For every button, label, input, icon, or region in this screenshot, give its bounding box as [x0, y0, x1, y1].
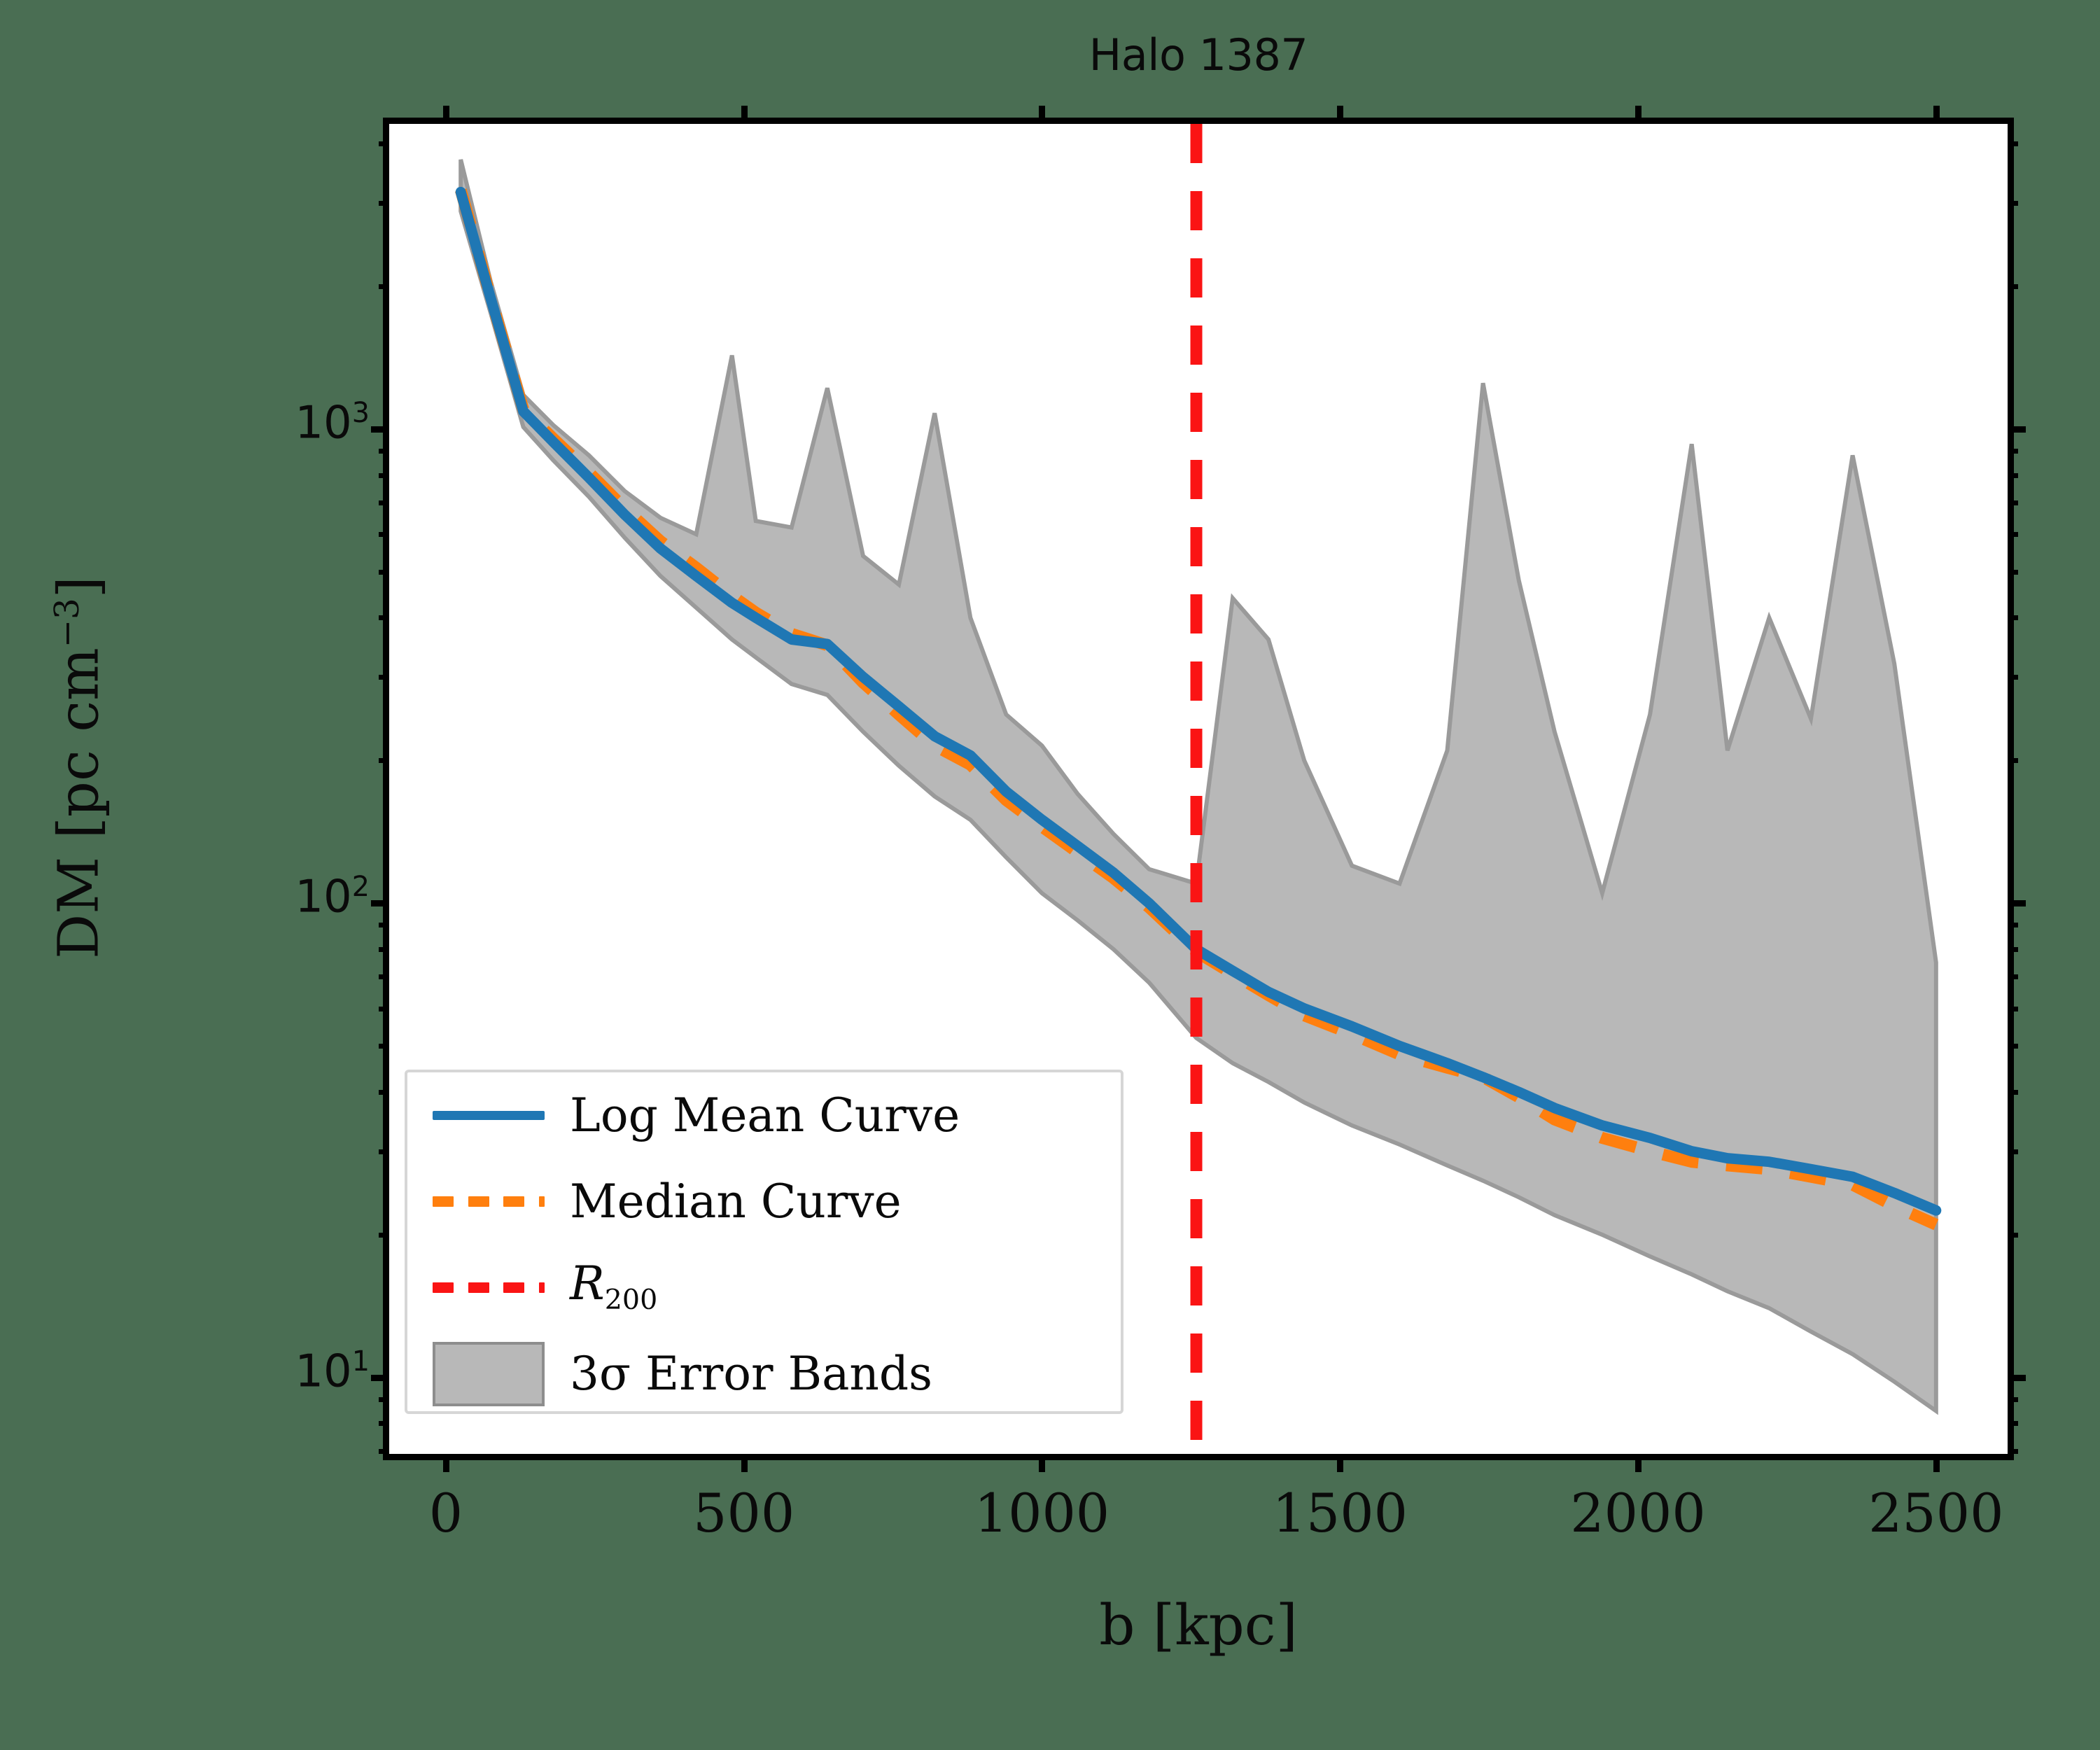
- y-tick-minor-8: [379, 1421, 389, 1426]
- y-tick-minor-right-50: [2008, 1044, 2018, 1049]
- y-tick-label-1e1: 101: [165, 1345, 370, 1397]
- y-tick-major-right-1e3: [2008, 426, 2026, 433]
- x-tick-major-top-2500: [1933, 106, 1940, 124]
- legend-item-median[interactable]: Median Curve: [407, 1158, 1121, 1245]
- x-tick-major-2500: [1933, 1454, 1940, 1472]
- y-tick-minor-right-700: [2008, 500, 2018, 505]
- y-tick-minor-right-20: [2008, 1233, 2018, 1238]
- y-tick-minor-20: [379, 1233, 389, 1238]
- y-tick-major-right-1e2: [2008, 900, 2026, 906]
- x-tick-label-2000: 2000: [1498, 1482, 1778, 1544]
- y-tick-major-left-1e3: [371, 426, 389, 433]
- y-tick-minor-right-90: [2008, 923, 2018, 927]
- y-tick-minor-right-500: [2008, 570, 2018, 575]
- x-tick-major-top-500: [741, 106, 748, 124]
- legend-item-r200[interactable]: R200: [407, 1245, 1121, 1331]
- y-axis-title: DM [pc cm−3]: [46, 278, 111, 1258]
- y-tick-minor-900: [379, 449, 389, 454]
- y-tick-minor-right-7: [2008, 1449, 2018, 1454]
- y-tick-minor-40: [379, 1090, 389, 1095]
- y-tick-minor-right-9: [2008, 1397, 2018, 1402]
- y-axis-title-text: DM [pc cm: [46, 647, 111, 959]
- y-tick-minor-right-40: [2008, 1090, 2018, 1095]
- y-tick-minor-right-2000: [2008, 284, 2018, 289]
- x-tick-major-1000: [1039, 1454, 1045, 1472]
- y-tick-minor-right-200: [2008, 758, 2018, 763]
- x-axis-title: b [kpc]: [383, 1592, 2014, 1658]
- y-tick-minor-500: [379, 570, 389, 575]
- legend-label-r200-subscript: 200: [605, 1284, 658, 1316]
- y-tick-minor-80: [379, 947, 389, 952]
- legend-item-error-bands[interactable]: 3σ Error Bands: [407, 1331, 1121, 1417]
- y-tick-minor-400: [379, 615, 389, 620]
- x-tick-major-1500: [1337, 1454, 1343, 1472]
- legend-label-r200-symbol: R: [570, 1256, 605, 1310]
- legend-key-dashed-red: [407, 1282, 570, 1293]
- legend-label-error-bands: 3σ Error Bands: [570, 1351, 932, 1397]
- x-tick-major-500: [741, 1454, 748, 1472]
- y-tick-minor-200: [379, 758, 389, 763]
- legend-key-dashed-orange: [407, 1196, 570, 1207]
- x-tick-major-top-1500: [1337, 106, 1343, 124]
- legend-label-median: Median Curve: [570, 1179, 902, 1225]
- y-tick-minor-70: [379, 974, 389, 979]
- figure-root: Halo 1387 10310210105001000150020002500 …: [0, 0, 2100, 1750]
- legend-label-log-mean: Log Mean Curve: [570, 1093, 960, 1139]
- legend: Log Mean Curve Median Curve R200 3σ Erro…: [405, 1070, 1123, 1414]
- y-tick-minor-right-3000: [2008, 201, 2018, 206]
- y-tick-minor-right-8: [2008, 1421, 2018, 1426]
- y-tick-minor-right-4000: [2008, 141, 2018, 146]
- y-tick-minor-2000: [379, 284, 389, 289]
- y-tick-minor-800: [379, 473, 389, 478]
- y-tick-minor-60: [379, 1007, 389, 1011]
- x-tick-label-2500: 2500: [1796, 1482, 2076, 1544]
- legend-key-solid-line: [407, 1111, 570, 1120]
- page-title: Halo 1387: [383, 29, 2014, 80]
- y-tick-minor-600: [379, 532, 389, 537]
- y-tick-minor-right-300: [2008, 675, 2018, 680]
- y-tick-minor-30: [379, 1149, 389, 1154]
- x-tick-major-top-0: [443, 106, 449, 124]
- y-tick-minor-3000: [379, 201, 389, 206]
- legend-label-r200: R200: [570, 1261, 657, 1315]
- y-tick-minor-right-60: [2008, 1007, 2018, 1011]
- y-axis-title-close: ]: [46, 576, 111, 598]
- y-tick-minor-right-800: [2008, 473, 2018, 478]
- y-tick-label-1e2: 102: [165, 871, 370, 923]
- y-tick-minor-90: [379, 923, 389, 927]
- y-tick-minor-right-600: [2008, 532, 2018, 537]
- x-tick-major-top-2000: [1635, 106, 1641, 124]
- y-tick-minor-right-70: [2008, 974, 2018, 979]
- x-tick-major-0: [443, 1454, 449, 1472]
- y-tick-major-left-1e1: [371, 1375, 389, 1381]
- y-tick-minor-right-80: [2008, 947, 2018, 952]
- y-tick-minor-50: [379, 1044, 389, 1049]
- y-tick-minor-right-400: [2008, 615, 2018, 620]
- x-tick-label-1500: 1500: [1200, 1482, 1480, 1544]
- x-tick-major-2000: [1635, 1454, 1641, 1472]
- y-tick-minor-300: [379, 675, 389, 680]
- y-axis-exponent: −3: [48, 598, 87, 647]
- x-tick-major-top-1000: [1039, 106, 1045, 124]
- x-tick-label-500: 500: [604, 1482, 884, 1544]
- y-tick-minor-4000: [379, 141, 389, 146]
- y-tick-minor-700: [379, 500, 389, 505]
- y-tick-minor-9: [379, 1397, 389, 1402]
- y-tick-minor-right-30: [2008, 1149, 2018, 1154]
- x-tick-label-0: 0: [306, 1482, 586, 1544]
- legend-item-log-mean[interactable]: Log Mean Curve: [407, 1072, 1121, 1158]
- legend-key-patch: [407, 1342, 570, 1406]
- x-tick-label-1000: 1000: [902, 1482, 1182, 1544]
- y-tick-minor-7: [379, 1449, 389, 1454]
- y-tick-label-1e3: 103: [165, 397, 370, 449]
- y-tick-major-right-1e1: [2008, 1375, 2026, 1381]
- y-tick-major-left-1e2: [371, 900, 389, 906]
- y-tick-minor-right-900: [2008, 449, 2018, 454]
